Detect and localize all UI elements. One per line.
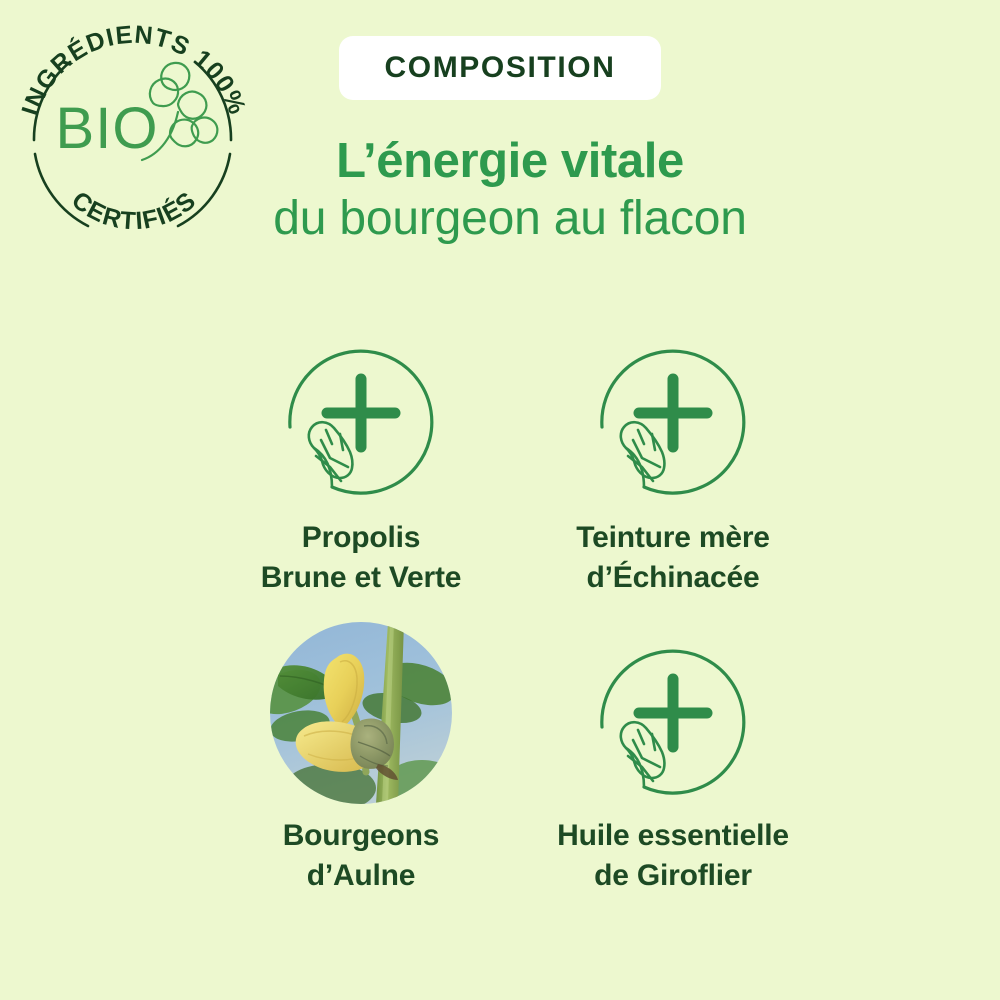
ingredient-item-echinacee: Teinture mère d’Échinacée [517,322,829,598]
alder-bud-photo [270,622,452,804]
ingredient-item-propolis: Propolis Brune et Verte [205,322,517,598]
ingredient-item-giroflier: Huile essentielle de Giroflier [517,622,829,896]
composition-badge: COMPOSITION [339,36,661,100]
page-title-line-1: L’énergie vitale [180,134,840,189]
ingredient-label: Huile essentielle de Giroflier [557,816,789,896]
bio-badge-center-text: BIO [56,96,159,161]
ingredients-grid: Propolis Brune et Verte [0,322,1000,896]
ingredient-label: Propolis Brune et Verte [261,518,462,598]
plus-leaf-icon [582,622,764,804]
ingredients-row-1: Propolis Brune et Verte [0,322,1000,598]
ingredients-row-2: Bourgeons d’Aulne [0,622,1000,896]
page-title: L’énergie vitale du bourgeon au flacon [180,134,840,249]
ingredient-label: Teinture mère d’Échinacée [576,518,770,598]
composition-badge-label: COMPOSITION [385,51,616,85]
ingredient-item-bourgeons-aulne: Bourgeons d’Aulne [205,622,517,896]
plus-leaf-icon [270,322,452,504]
plus-leaf-icon [582,322,764,504]
page-title-line-2: du bourgeon au flacon [180,189,840,249]
ingredient-label: Bourgeons d’Aulne [283,816,440,896]
